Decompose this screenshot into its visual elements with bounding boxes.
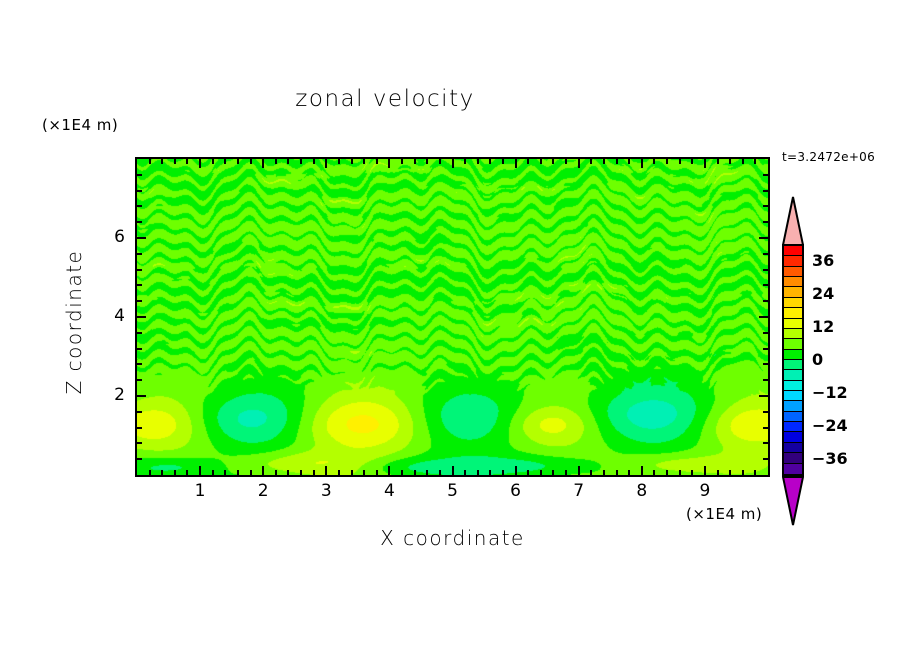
x-axis-minor-tick [174, 470, 176, 475]
x-axis-minor-tick [149, 159, 151, 164]
x-axis-tick [199, 466, 201, 475]
y-axis-minor-tick [763, 427, 768, 429]
x-axis-minor-tick [527, 159, 529, 164]
colorbar-band [784, 370, 802, 380]
colorbar-band [784, 464, 802, 474]
y-axis-minor-tick [137, 221, 142, 223]
x-axis-minor-tick [754, 159, 756, 164]
x-axis-tick [515, 159, 517, 168]
colorbar-band [784, 256, 802, 266]
y-axis-minor-tick [763, 442, 768, 444]
y-axis-minor-tick [763, 221, 768, 223]
x-axis-minor-tick [149, 470, 151, 475]
x-axis-minor-tick [287, 159, 289, 164]
x-axis-tick [704, 466, 706, 475]
x-axis-minor-tick [628, 470, 630, 475]
y-axis-minor-tick [763, 348, 768, 350]
x-axis-tick-label: 3 [311, 481, 341, 501]
colorbar-tick-label: 12 [812, 317, 834, 336]
y-axis-tick-label: 2 [95, 385, 125, 405]
x-axis-minor-tick [489, 470, 491, 475]
y-axis-minor-tick [763, 284, 768, 286]
x-axis-tick-label: 5 [438, 481, 468, 501]
y-axis-minor-tick [137, 442, 142, 444]
x-axis-minor-tick [527, 470, 529, 475]
y-axis-minor-tick [763, 174, 768, 176]
x-axis-minor-tick [502, 159, 504, 164]
colorbar-over-arrow-icon [782, 196, 804, 246]
x-axis-minor-tick [603, 470, 605, 475]
x-axis-tick-label: 7 [564, 481, 594, 501]
x-axis-minor-tick [313, 470, 315, 475]
x-axis-minor-tick [414, 470, 416, 475]
x-axis-tick-label: 1 [185, 481, 215, 501]
x-axis-minor-tick [691, 470, 693, 475]
x-axis-tick-label: 8 [627, 481, 657, 501]
x-axis-minor-tick [717, 159, 719, 164]
x-axis-tick [262, 159, 264, 168]
colorbar-band [784, 267, 802, 277]
x-axis-minor-tick [691, 159, 693, 164]
x-axis-minor-tick [250, 470, 252, 475]
colorbar-tick-label: −12 [812, 383, 848, 402]
colorbar-band [784, 422, 802, 432]
x-axis-minor-tick [376, 159, 378, 164]
x-axis-tick [388, 466, 390, 475]
x-axis-minor-tick [502, 470, 504, 475]
x-axis-minor-tick [754, 470, 756, 475]
x-axis-minor-tick [477, 159, 479, 164]
x-axis-minor-tick [603, 159, 605, 164]
y-axis-minor-tick [137, 348, 142, 350]
x-axis-tick [515, 466, 517, 475]
y-axis-minor-tick [137, 253, 142, 255]
colorbar-bands [782, 244, 804, 476]
colorbar-tick-label: 24 [812, 284, 834, 303]
colorbar-band [784, 329, 802, 339]
colorbar-band [784, 432, 802, 442]
x-axis-minor-tick [717, 470, 719, 475]
y-axis-tick [759, 395, 768, 397]
colorbar-band [784, 401, 802, 411]
x-axis-minor-tick [363, 470, 365, 475]
x-axis-minor-tick [363, 159, 365, 164]
x-axis-minor-tick [313, 159, 315, 164]
x-axis-minor-tick [401, 470, 403, 475]
colorbar-under-arrow-icon [782, 474, 804, 526]
x-axis-minor-tick [679, 159, 681, 164]
x-axis-minor-tick [338, 470, 340, 475]
x-axis-minor-tick [224, 159, 226, 164]
x-axis-tick-label: 4 [374, 481, 404, 501]
x-axis-minor-tick [552, 470, 554, 475]
colorbar-tick-label: 0 [812, 350, 823, 369]
x-axis-minor-tick [212, 470, 214, 475]
colorbar-tick-label: −36 [812, 449, 848, 468]
y-axis-tick-label: 4 [95, 306, 125, 326]
y-axis-minor-tick [763, 379, 768, 381]
x-axis-minor-tick [212, 159, 214, 164]
x-axis-minor-tick [237, 159, 239, 164]
x-axis-minor-tick [186, 470, 188, 475]
y-axis-minor-tick [137, 269, 142, 271]
x-axis-tick [388, 159, 390, 168]
colorbar-band [784, 350, 802, 360]
y-axis-tick-label: 6 [95, 227, 125, 247]
colorbar-tick-label: 36 [812, 251, 834, 270]
y-axis-minor-tick [763, 411, 768, 413]
y-axis-minor-tick [137, 458, 142, 460]
x-axis-minor-tick [666, 159, 668, 164]
x-axis-tick [199, 159, 201, 168]
y-axis-minor-tick [137, 300, 142, 302]
x-axis-tick [578, 466, 580, 475]
x-axis-minor-tick [653, 159, 655, 164]
colorbar-band [784, 287, 802, 297]
colorbar-band [784, 308, 802, 318]
x-axis-minor-tick [616, 159, 618, 164]
x-axis-minor-tick [351, 159, 353, 164]
x-axis-minor-tick [729, 159, 731, 164]
x-axis-tick-label: 6 [501, 481, 531, 501]
x-axis-tick-label: 2 [248, 481, 278, 501]
timestamp-annotation: t=3.2472e+06 [782, 150, 875, 164]
x-axis-tick [641, 466, 643, 475]
colorbar-band [784, 319, 802, 329]
colorbar-band [784, 277, 802, 287]
x-axis-tick [641, 159, 643, 168]
x-axis-tick [452, 159, 454, 168]
x-axis-minor-tick [616, 470, 618, 475]
x-axis-minor-tick [338, 159, 340, 164]
colorbar-band [784, 443, 802, 453]
colorbar-band [784, 381, 802, 391]
axis-tick-layer: 123456789246 [0, 0, 904, 654]
x-axis-minor-tick [224, 470, 226, 475]
colorbar-band [784, 339, 802, 349]
y-axis-tick [759, 316, 768, 318]
y-axis-minor-tick [763, 458, 768, 460]
y-axis-tick [137, 237, 146, 239]
x-axis-minor-tick [414, 159, 416, 164]
x-axis-minor-tick [464, 159, 466, 164]
x-axis-minor-tick [237, 470, 239, 475]
x-axis-minor-tick [439, 470, 441, 475]
x-axis-minor-tick [565, 159, 567, 164]
x-axis-tick [325, 159, 327, 168]
x-axis-tick [262, 466, 264, 475]
colorbar-band [784, 391, 802, 401]
x-axis-minor-tick [565, 470, 567, 475]
x-axis-minor-tick [300, 470, 302, 475]
x-axis-minor-tick [376, 470, 378, 475]
colorbar-band [784, 298, 802, 308]
x-axis-minor-tick [351, 470, 353, 475]
x-axis-minor-tick [186, 159, 188, 164]
x-axis-minor-tick [477, 470, 479, 475]
x-axis-minor-tick [275, 470, 277, 475]
colorbar-band [784, 360, 802, 370]
y-axis-minor-tick [763, 363, 768, 365]
y-axis-minor-tick [137, 427, 142, 429]
y-axis-minor-tick [137, 363, 142, 365]
x-axis-minor-tick [552, 159, 554, 164]
colorbar-band [784, 246, 802, 256]
y-axis-minor-tick [763, 253, 768, 255]
y-axis-minor-tick [763, 300, 768, 302]
x-axis-tick-label: 9 [690, 481, 720, 501]
colorbar-tick-label: −24 [812, 416, 848, 435]
x-axis-minor-tick [679, 470, 681, 475]
y-axis-minor-tick [137, 332, 142, 334]
colorbar-band [784, 412, 802, 422]
colorbar: 3624120−12−24−36 [776, 196, 896, 526]
x-axis-minor-tick [742, 159, 744, 164]
x-axis-minor-tick [439, 159, 441, 164]
x-axis-minor-tick [300, 159, 302, 164]
x-axis-minor-tick [628, 159, 630, 164]
x-axis-minor-tick [729, 470, 731, 475]
x-axis-minor-tick [742, 470, 744, 475]
x-axis-minor-tick [250, 159, 252, 164]
x-axis-minor-tick [540, 470, 542, 475]
y-axis-minor-tick [137, 284, 142, 286]
x-axis-minor-tick [653, 470, 655, 475]
x-axis-tick [578, 159, 580, 168]
y-axis-minor-tick [763, 205, 768, 207]
y-axis-minor-tick [137, 174, 142, 176]
x-axis-minor-tick [287, 470, 289, 475]
x-axis-minor-tick [426, 470, 428, 475]
y-axis-minor-tick [137, 411, 142, 413]
y-axis-minor-tick [763, 190, 768, 192]
x-axis-minor-tick [401, 159, 403, 164]
y-axis-tick [759, 237, 768, 239]
x-axis-tick [452, 466, 454, 475]
colorbar-band [784, 453, 802, 463]
x-axis-minor-tick [161, 159, 163, 164]
y-axis-tick [137, 395, 146, 397]
x-axis-minor-tick [590, 159, 592, 164]
x-axis-minor-tick [540, 159, 542, 164]
y-axis-tick [137, 316, 146, 318]
x-axis-minor-tick [464, 470, 466, 475]
x-axis-tick [704, 159, 706, 168]
y-axis-minor-tick [763, 332, 768, 334]
x-axis-minor-tick [161, 470, 163, 475]
x-axis-minor-tick [590, 470, 592, 475]
y-axis-minor-tick [137, 205, 142, 207]
y-axis-minor-tick [763, 269, 768, 271]
y-axis-minor-tick [137, 379, 142, 381]
x-axis-minor-tick [489, 159, 491, 164]
x-axis-minor-tick [666, 470, 668, 475]
y-axis-minor-tick [137, 190, 142, 192]
x-axis-minor-tick [174, 159, 176, 164]
x-axis-minor-tick [426, 159, 428, 164]
x-axis-tick [325, 466, 327, 475]
x-axis-minor-tick [275, 159, 277, 164]
